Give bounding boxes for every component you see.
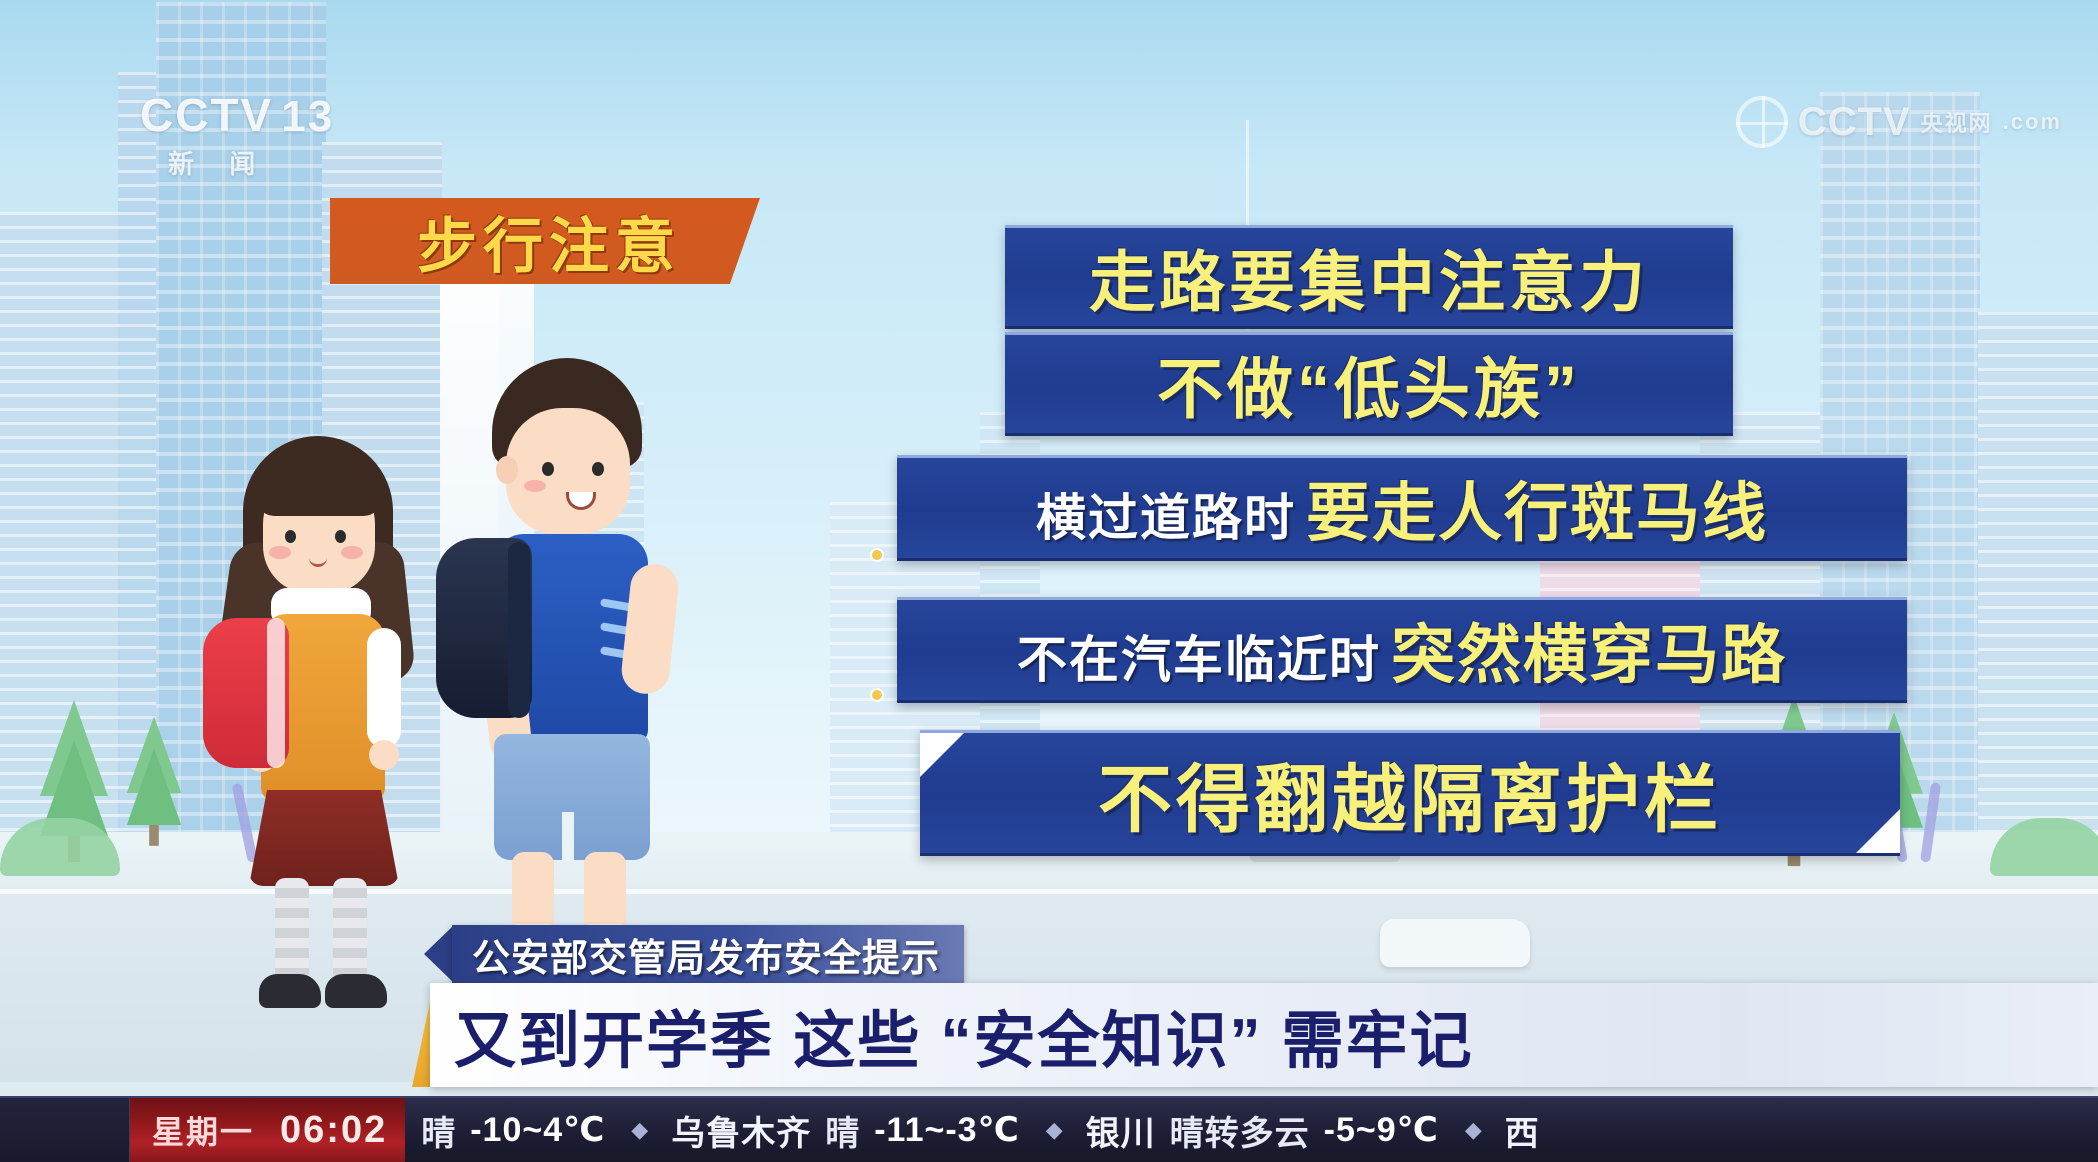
subtitle-bar: 公安部交管局发布安全提示 [452, 925, 964, 983]
broadcast-frame: CCTV13 新 闻 CCTV 央视网 .com 步行注意 走路要集中注意力 不… [0, 0, 2098, 1162]
girl-cheek-right [341, 546, 363, 559]
ticker-bullet-icon: ◆ [631, 1117, 671, 1143]
ticker-entry: 乌鲁木齐 晴 -11~-3℃ [671, 1106, 1046, 1155]
tip-3-white-text: 横过道路时 [1036, 478, 1296, 550]
corner-triangle-top-left-icon [920, 733, 964, 777]
ticker-entry-temp: -11~-3℃ [874, 1110, 1020, 1150]
tip-4-connector-dot [870, 688, 884, 702]
ticker-bullet-icon: ◆ [1046, 1117, 1086, 1143]
ticker-entry-city: 西 [1505, 1106, 1540, 1155]
cctv-watermark-suffix: .com [2003, 109, 2062, 135]
weather-ticker: 星期一 06:02 晴 -10~4℃ ◆ 乌鲁木齐 晴 -11~-3℃ ◆ 银川… [0, 1096, 2098, 1162]
ticker-entry: 银川 晴转多云 -5~9℃ [1086, 1106, 1465, 1155]
section-banner-label: 步行注意 [417, 198, 681, 285]
girl-leg-right [333, 878, 367, 982]
subtitle-bar-arrow-icon [424, 925, 454, 983]
corner-triangle-bottom-right-icon [1856, 809, 1900, 853]
tip-3-yellow-text: 要走人行斑马线 [1306, 462, 1768, 554]
globe-icon [1736, 96, 1788, 148]
tip-1-yellow-text: 走路要集中注意力 [1089, 229, 1649, 325]
tip-4-yellow-text: 突然横穿马路 [1391, 604, 1787, 696]
ticker-entry-condition: 晴转多云 [1170, 1106, 1310, 1155]
tip-box-1: 走路要集中注意力 [1005, 225, 1733, 329]
section-banner-walking: 步行注意 [330, 198, 760, 284]
girl-cheek-left [269, 546, 291, 559]
ticker-clock-block: 星期一 06:02 [130, 1098, 405, 1162]
ticker-entry-temp: -10~4℃ [470, 1110, 605, 1150]
cctv-logo-number: 13 [281, 92, 334, 141]
girl-eye-right [335, 530, 346, 543]
ticker-entry-city: 银川 [1086, 1106, 1156, 1155]
girl-hand-right [369, 740, 399, 770]
ticker-bullet-icon: ◆ [1465, 1117, 1505, 1143]
girl-backpack-strap [267, 618, 285, 768]
ticker-entry-city: 乌鲁木齐 [671, 1106, 811, 1155]
tip-box-2: 不做“低头族” [1005, 332, 1733, 436]
ticker-left-pad [0, 1098, 130, 1162]
girl-fringe [255, 454, 383, 516]
cctv-logo-text: CCTV [140, 89, 273, 141]
tip-box-3: 横过道路时 要走人行斑马线 [897, 455, 1907, 561]
subtitle-text: 公安部交管局发布安全提示 [472, 927, 940, 982]
headline-bar: 又到开学季 这些 “安全知识” 需牢记 [430, 983, 2098, 1087]
cctv-watermark-cn: 央视网 [1921, 106, 1993, 138]
girl-shoe-left [259, 974, 321, 1008]
girl-shoe-right [325, 974, 387, 1008]
ticker-entries: 晴 -10~4℃ ◆ 乌鲁木齐 晴 -11~-3℃ ◆ 银川 晴转多云 -5~9… [405, 1106, 1566, 1155]
boy-backpack-strap [508, 542, 530, 718]
tip-3-connector-dot [870, 548, 884, 562]
ticker-entry-condition: 晴 [825, 1106, 860, 1155]
boy-face [506, 408, 630, 534]
ticker-weekday: 星期一 [152, 1107, 254, 1153]
girl-leg-left [275, 878, 309, 982]
tree-icon [127, 716, 181, 846]
tip-5-yellow-text: 不得翻越隔离护栏 [1098, 740, 1722, 847]
ticker-entry-condition: 晴 [421, 1106, 456, 1155]
cctv-watermark: CCTV 央视网 .com [1736, 96, 2062, 148]
ticker-entry-temp: -5~9℃ [1324, 1110, 1439, 1150]
headline-text: 又到开学季 这些 “安全知识” 需牢记 [454, 990, 1474, 1080]
boy-eye-right [592, 462, 604, 476]
cctv-watermark-text: CCTV [1798, 100, 1911, 145]
tip-box-4: 不在汽车临近时 突然横穿马路 [897, 597, 1907, 703]
girl-skirt [249, 790, 399, 886]
cctv-logo-subtitle: 新 闻 [168, 144, 269, 181]
ticker-entry: 西 [1505, 1106, 1566, 1155]
character-girl [205, 422, 445, 1042]
tip-box-5: 不得翻越隔离护栏 [920, 730, 1900, 856]
car-white [1380, 919, 1530, 967]
tip-4-white-text: 不在汽车临近时 [1017, 620, 1381, 692]
cctv-logo: CCTV13 [140, 88, 334, 142]
boy-cheek [524, 480, 546, 492]
boy-eye-left [542, 462, 554, 476]
tip-2-yellow-text: 不做“低头族” [1157, 336, 1581, 432]
boy-ear [496, 456, 518, 484]
girl-eye-left [285, 530, 296, 543]
building-right-2 [1978, 312, 2098, 832]
ticker-time: 06:02 [280, 1109, 387, 1152]
character-boy [450, 352, 710, 1012]
girl-sleeve-right [367, 628, 401, 748]
boy-shorts-gap [562, 812, 574, 862]
ticker-entry: 晴 -10~4℃ [421, 1106, 631, 1155]
